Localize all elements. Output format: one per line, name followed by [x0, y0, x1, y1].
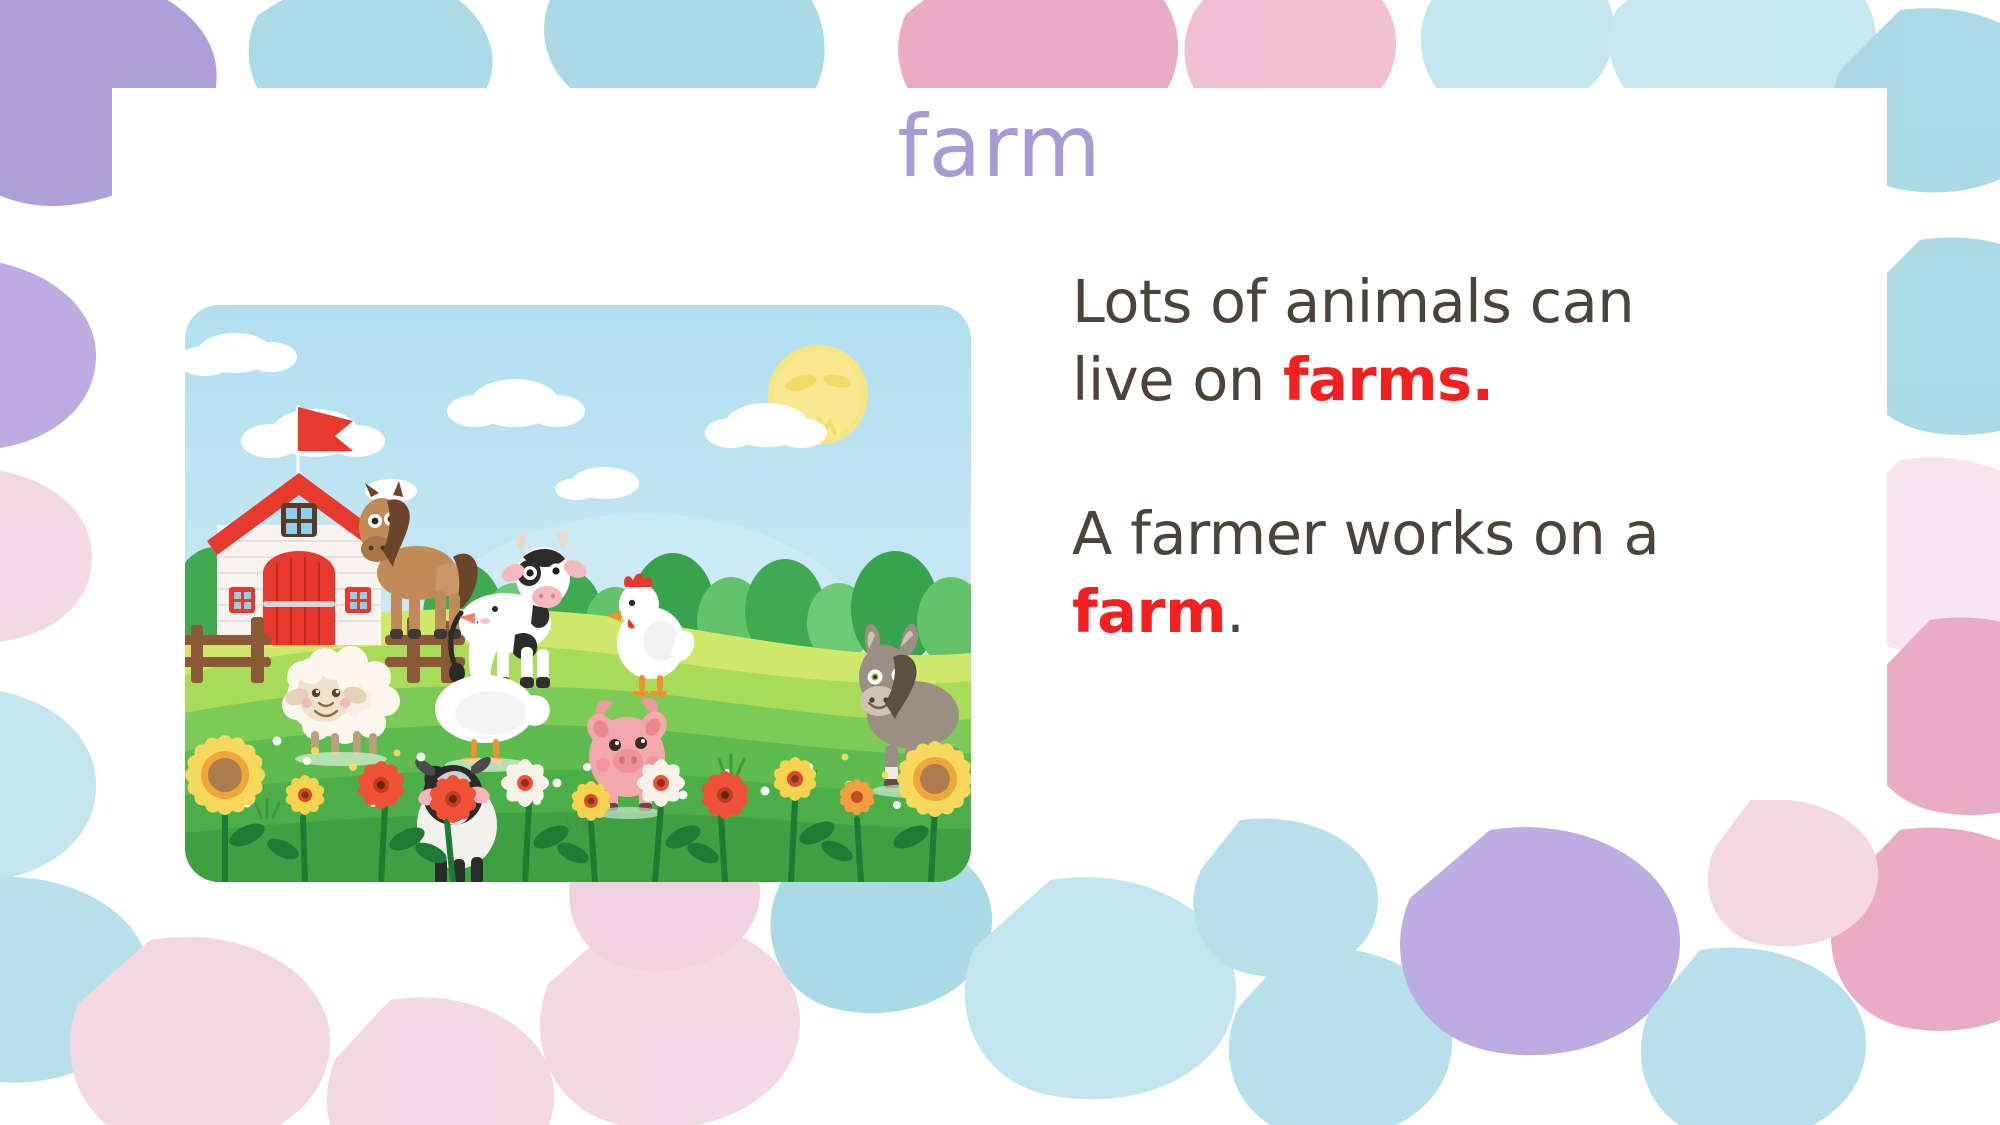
paragraph-1-line-2-text: live on — [1072, 345, 1283, 414]
paragraph-2-line-1: A farmer works on a — [1072, 495, 1832, 573]
paragraph-2: A farmer works on a farm. — [1072, 495, 1832, 651]
highlight-word-farm: farm — [1072, 577, 1226, 646]
paragraph-2-period: . — [1226, 577, 1244, 646]
highlight-word-farms: farms. — [1283, 345, 1494, 414]
content-card: farm — [112, 88, 1887, 800]
slide-root: farm — [0, 0, 2000, 1125]
paragraph-1-line-1: Lots of animals can — [1072, 263, 1832, 341]
farm-scene-illustration — [185, 305, 971, 882]
lesson-text-block: Lots of animals can live on farms. A far… — [1072, 263, 1832, 651]
paragraph-2-line-2: farm. — [1072, 573, 1832, 651]
paragraph-1: Lots of animals can live on farms. — [1072, 263, 1832, 419]
page-title: farm — [112, 100, 1887, 195]
paragraph-1-line-2: live on farms. — [1072, 341, 1832, 419]
